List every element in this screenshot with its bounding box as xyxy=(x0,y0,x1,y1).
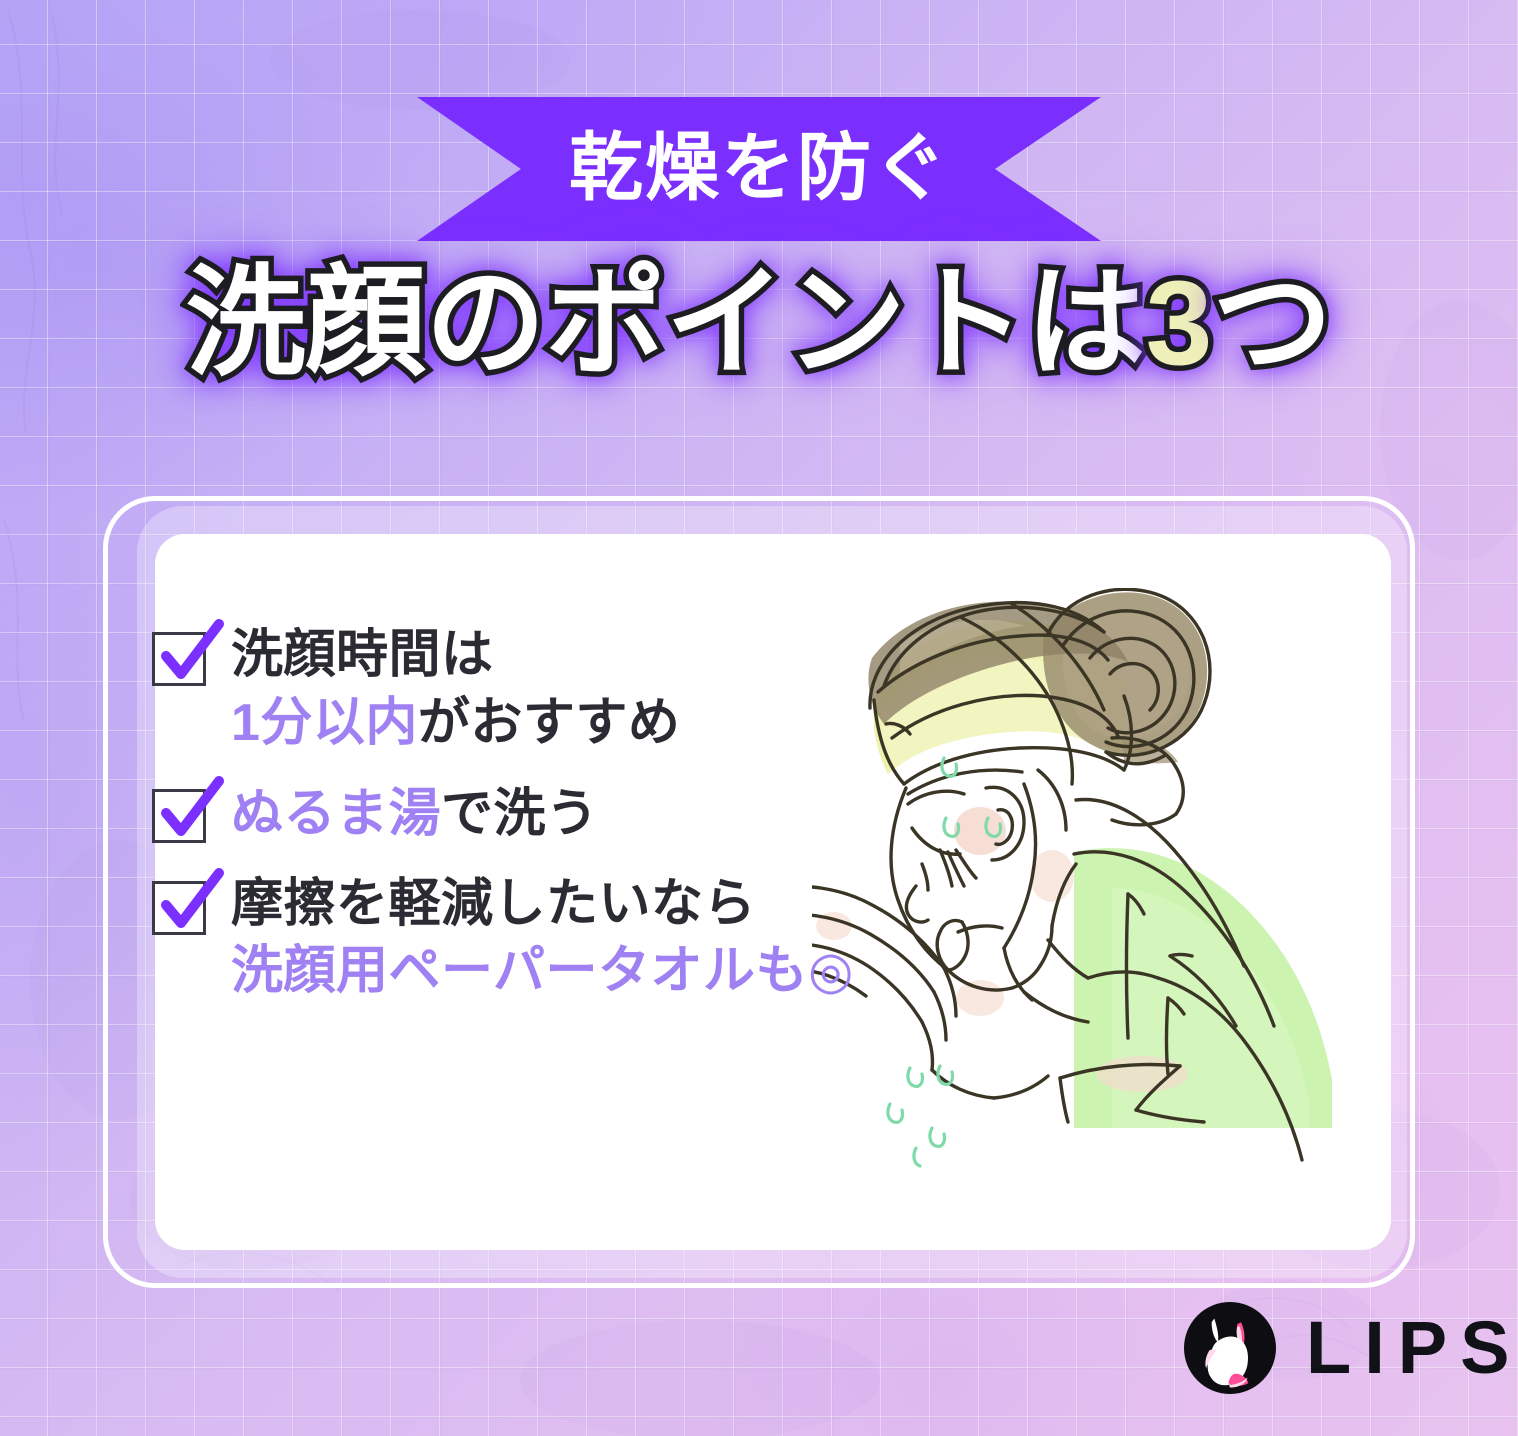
checkmark-icon xyxy=(153,779,223,849)
page-title-part-3: つ xyxy=(1212,256,1332,390)
page-title-number: 3 xyxy=(1146,256,1213,390)
list-item-text: ぬるま湯で洗う xyxy=(231,779,599,849)
checkbox-checked-icon[interactable] xyxy=(152,785,210,843)
lips-logo[interactable]: LIPS xyxy=(1184,1302,1518,1394)
checkmark-icon xyxy=(153,871,223,941)
checkbox-checked-icon[interactable] xyxy=(152,628,210,686)
list-item-text: 摩擦を軽減したいなら 洗顔用ペーパータオルも◎ xyxy=(231,871,854,1006)
list-item[interactable]: ぬるま湯で洗う xyxy=(152,779,972,849)
poster-root: 乾燥を防ぐ 洗顔のポイントは3つ xyxy=(0,0,1518,1436)
lips-wordmark: LIPS xyxy=(1306,1311,1518,1385)
list-item-highlight: 1分以内 xyxy=(231,694,418,752)
checkbox-checked-icon[interactable] xyxy=(152,877,210,935)
list-item-line: 摩擦を軽減したいなら xyxy=(231,875,756,933)
checkmark-icon xyxy=(153,622,223,692)
list-item-text: 洗顔時間は 1分以内がおすすめ xyxy=(231,622,680,757)
page-title: 洗顔のポイントは3つ xyxy=(0,256,1518,390)
list-item-line: 洗顔時間は xyxy=(231,626,494,684)
ribbon-banner: 乾燥を防ぐ xyxy=(417,97,1101,241)
list-item-highlight: ぬるま湯 xyxy=(231,785,441,843)
list-item-line: で洗う xyxy=(441,785,599,843)
ribbon-label: 乾燥を防ぐ xyxy=(569,131,949,208)
checklist: 洗顔時間は 1分以内がおすすめ ぬるま湯で洗う xyxy=(152,622,972,1006)
list-item-highlight: 洗顔用ペーパータオルも◎ xyxy=(231,942,854,1000)
page-title-part-1: 洗顔のポイントは xyxy=(186,256,1146,390)
ribbon-shape: 乾燥を防ぐ xyxy=(417,97,1101,241)
list-item[interactable]: 摩擦を軽減したいなら 洗顔用ペーパータオルも◎ xyxy=(152,871,972,1006)
lips-fawn-icon xyxy=(1184,1302,1276,1394)
list-item-line: がおすすめ xyxy=(418,694,681,752)
list-item[interactable]: 洗顔時間は 1分以内がおすすめ xyxy=(152,622,972,757)
